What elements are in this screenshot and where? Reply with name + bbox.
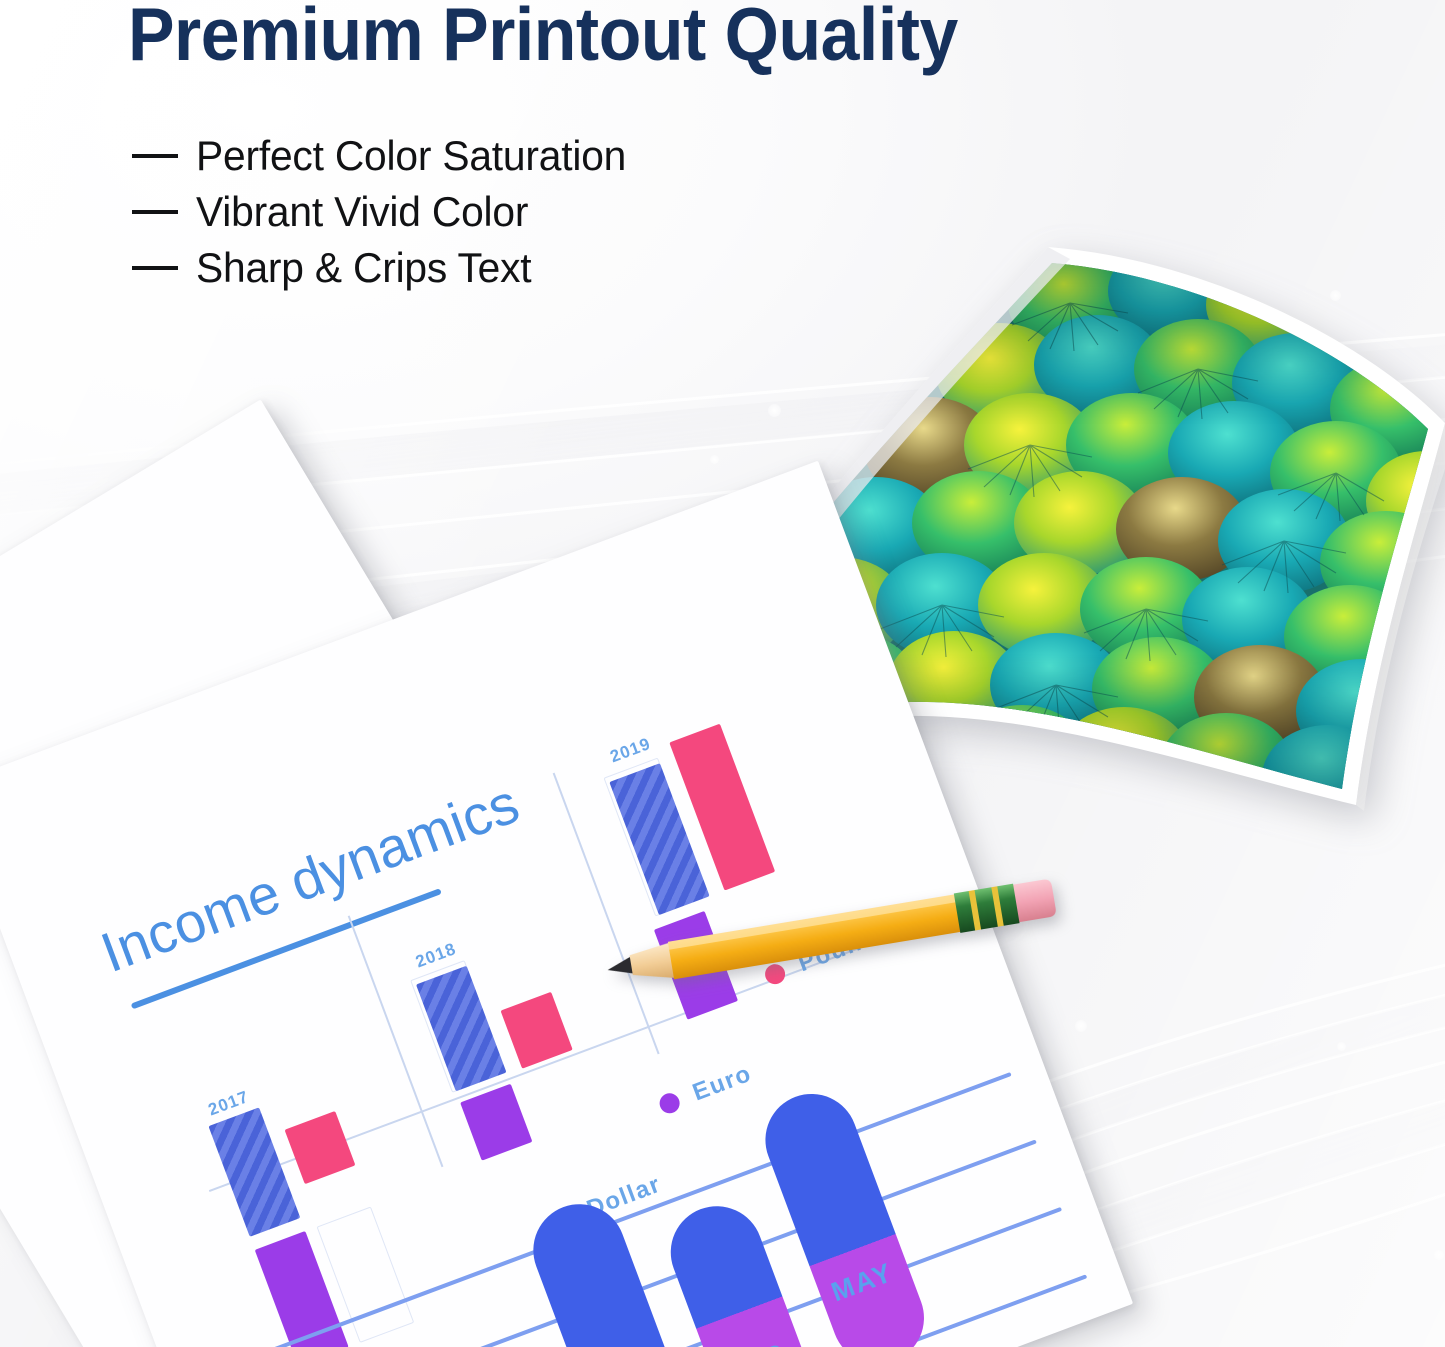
em-dash-icon [132, 266, 178, 270]
feature-label: Sharp & Crips Text [196, 244, 531, 292]
legend-item-euro: Euro [655, 1060, 755, 1120]
list-item: Sharp & Crips Text [132, 240, 639, 296]
feature-list: Perfect Color Saturation Vibrant Vivid C… [132, 128, 639, 296]
sheet-title: Income dynamics [92, 770, 527, 985]
legend-dot-icon [657, 1090, 683, 1116]
em-dash-icon [132, 210, 178, 214]
bar-dollar-2017 [208, 1107, 300, 1236]
feature-label: Vibrant Vivid Color [196, 188, 528, 236]
feature-label: Perfect Color Saturation [196, 132, 626, 180]
list-item: Perfect Color Saturation [132, 128, 639, 184]
page-title: Premium Printout Quality [128, 0, 958, 73]
bar-pound-2017 [285, 1111, 356, 1184]
em-dash-icon [132, 154, 178, 158]
poster-canvas: Premium Printout Quality Perfect Color S… [0, 0, 1445, 1347]
legend-label: Euro [689, 1060, 756, 1107]
bar-euro-2018 [460, 1084, 532, 1161]
list-item: Vibrant Vivid Color [132, 184, 639, 240]
